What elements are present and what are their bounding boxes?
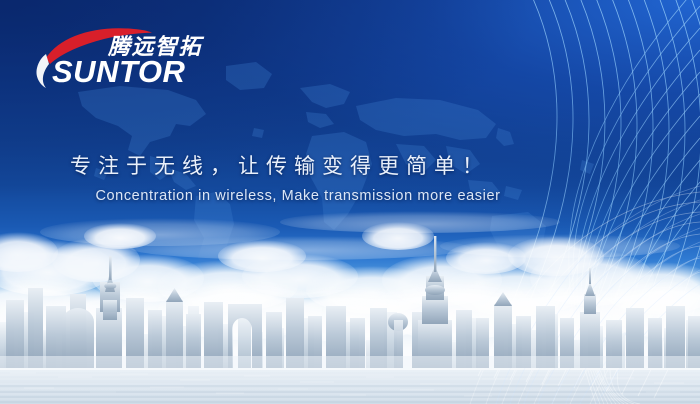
suntor-promotional-banner: 腾远智拓 SUNTOR 专注于无线，让传输变得更简单！ Concentratio… bbox=[0, 0, 700, 404]
suntor-logo[interactable]: 腾远智拓 SUNTOR bbox=[30, 24, 245, 90]
tagline-chinese: 专注于无线，让传输变得更简单！ bbox=[0, 150, 560, 180]
tagline-english: Concentration in wireless, Make transmis… bbox=[0, 188, 596, 204]
logo-latin-text: SUNTOR bbox=[52, 54, 185, 89]
water-ripple-texture bbox=[0, 366, 700, 404]
swoosh-tail-icon bbox=[36, 54, 49, 88]
